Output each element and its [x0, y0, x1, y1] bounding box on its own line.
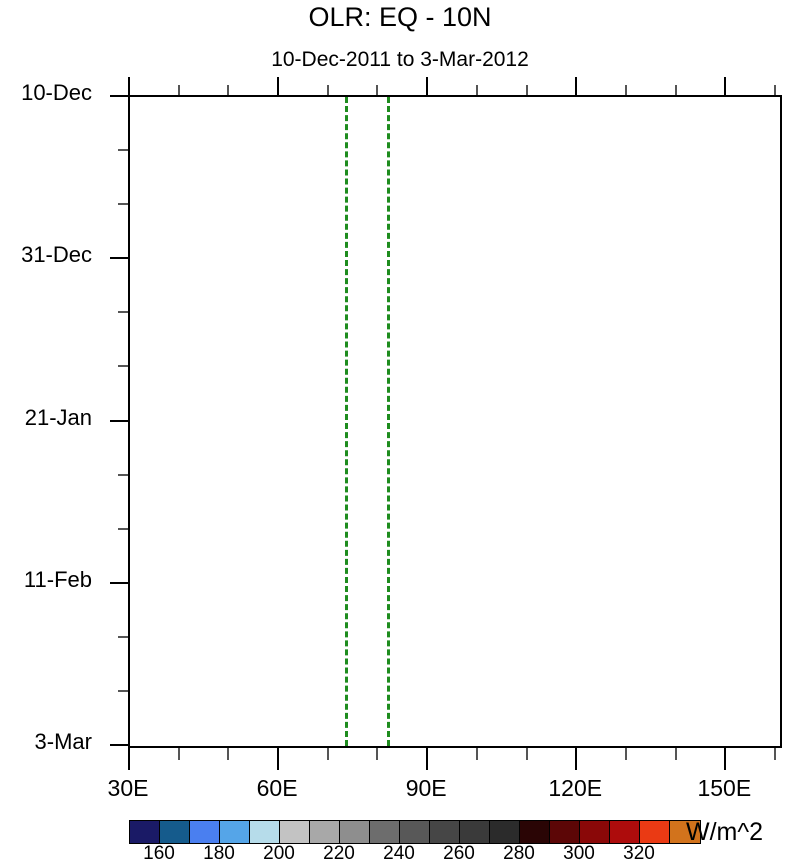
- colorbar-tick-label: 240: [383, 843, 415, 865]
- colorbar-tick-label: 200: [263, 843, 295, 865]
- olr-contour-field: [130, 97, 780, 746]
- page-title: OLR: EQ - 10N: [0, 2, 800, 33]
- colorbar-tick-label: 220: [323, 843, 355, 865]
- x-tick-top: [675, 85, 677, 95]
- y-axis-label: 3-Mar: [35, 729, 92, 755]
- x-tick-minor: [526, 748, 528, 760]
- colorbar-swatch[interactable]: [580, 821, 610, 843]
- colorbar-tick-label: 320: [623, 843, 655, 865]
- x-tick-minor: [774, 748, 776, 760]
- x-tick-minor: [227, 748, 229, 760]
- x-tick-top: [476, 85, 478, 95]
- x-axis-label: 120E: [548, 775, 602, 802]
- x-tick-major: [724, 748, 726, 770]
- colorbar-swatch[interactable]: [280, 821, 310, 843]
- colorbar-swatch[interactable]: [430, 821, 460, 843]
- x-tick-top: [128, 77, 130, 95]
- x-tick-top: [277, 77, 279, 95]
- x-axis-label: 150E: [697, 775, 751, 802]
- colorbar[interactable]: [129, 820, 701, 844]
- colorbar-swatch[interactable]: [460, 821, 490, 843]
- hovmoller-figure: OLR: EQ - 10N 10-Dec-2011 to 3-Mar-2012 …: [0, 0, 800, 863]
- x-tick-top: [327, 85, 329, 95]
- colorbar-swatch[interactable]: [340, 821, 370, 843]
- colorbar-tick-label: 280: [503, 843, 535, 865]
- y-axis-label: 11-Feb: [24, 567, 92, 593]
- x-tick-minor: [376, 748, 378, 760]
- y-tick-major: [110, 95, 130, 97]
- colorbar-tick-label: 180: [203, 843, 235, 865]
- x-tick-top: [575, 77, 577, 95]
- colorbar-swatch[interactable]: [130, 821, 160, 843]
- y-tick-major: [110, 420, 130, 422]
- x-tick-top: [227, 85, 229, 95]
- plot-area[interactable]: [128, 95, 782, 748]
- x-axis-label: 30E: [108, 775, 149, 802]
- x-tick-major: [426, 748, 428, 770]
- colorbar-swatch[interactable]: [250, 821, 280, 843]
- x-tick-minor: [625, 748, 627, 760]
- x-tick-top: [426, 77, 428, 95]
- colorbar-units-label: W/m^2: [686, 818, 763, 847]
- y-tick-major: [110, 257, 130, 259]
- colorbar-swatch[interactable]: [400, 821, 430, 843]
- x-tick-top: [724, 77, 726, 95]
- reference-line-west-marker: [345, 97, 348, 746]
- x-tick-top: [376, 85, 378, 95]
- colorbar-swatch[interactable]: [490, 821, 520, 843]
- colorbar-swatch[interactable]: [370, 821, 400, 843]
- colorbar-tick-label: 300: [563, 843, 595, 865]
- x-tick-major: [128, 748, 130, 770]
- x-tick-minor: [327, 748, 329, 760]
- colorbar-swatch[interactable]: [610, 821, 640, 843]
- colorbar-swatch[interactable]: [190, 821, 220, 843]
- x-tick-minor: [476, 748, 478, 760]
- x-tick-minor: [178, 748, 180, 760]
- y-axis-label: 21-Jan: [25, 405, 92, 431]
- y-tick-major: [110, 744, 130, 746]
- reference-line-east-marker: [387, 97, 390, 746]
- x-tick-major: [277, 748, 279, 770]
- x-axis-label: 90E: [406, 775, 447, 802]
- colorbar-swatch[interactable]: [310, 821, 340, 843]
- x-tick-top: [178, 85, 180, 95]
- x-tick-top: [526, 85, 528, 95]
- colorbar-tick-label: 260: [443, 843, 475, 865]
- colorbar-swatch[interactable]: [520, 821, 550, 843]
- colorbar-swatch[interactable]: [160, 821, 190, 843]
- x-tick-top: [625, 85, 627, 95]
- y-tick-major: [110, 582, 130, 584]
- x-tick-major: [575, 748, 577, 770]
- colorbar-swatch[interactable]: [220, 821, 250, 843]
- colorbar-swatch[interactable]: [640, 821, 670, 843]
- y-axis-label: 31-Dec: [21, 242, 92, 268]
- x-tick-top: [774, 85, 776, 95]
- x-tick-minor: [675, 748, 677, 760]
- date-range-subtitle: 10-Dec-2011 to 3-Mar-2012: [0, 48, 800, 72]
- colorbar-tick-label: 160: [143, 843, 175, 865]
- x-axis-label: 60E: [257, 775, 298, 802]
- y-axis-label: 10-Dec: [21, 80, 92, 106]
- colorbar-swatch[interactable]: [550, 821, 580, 843]
